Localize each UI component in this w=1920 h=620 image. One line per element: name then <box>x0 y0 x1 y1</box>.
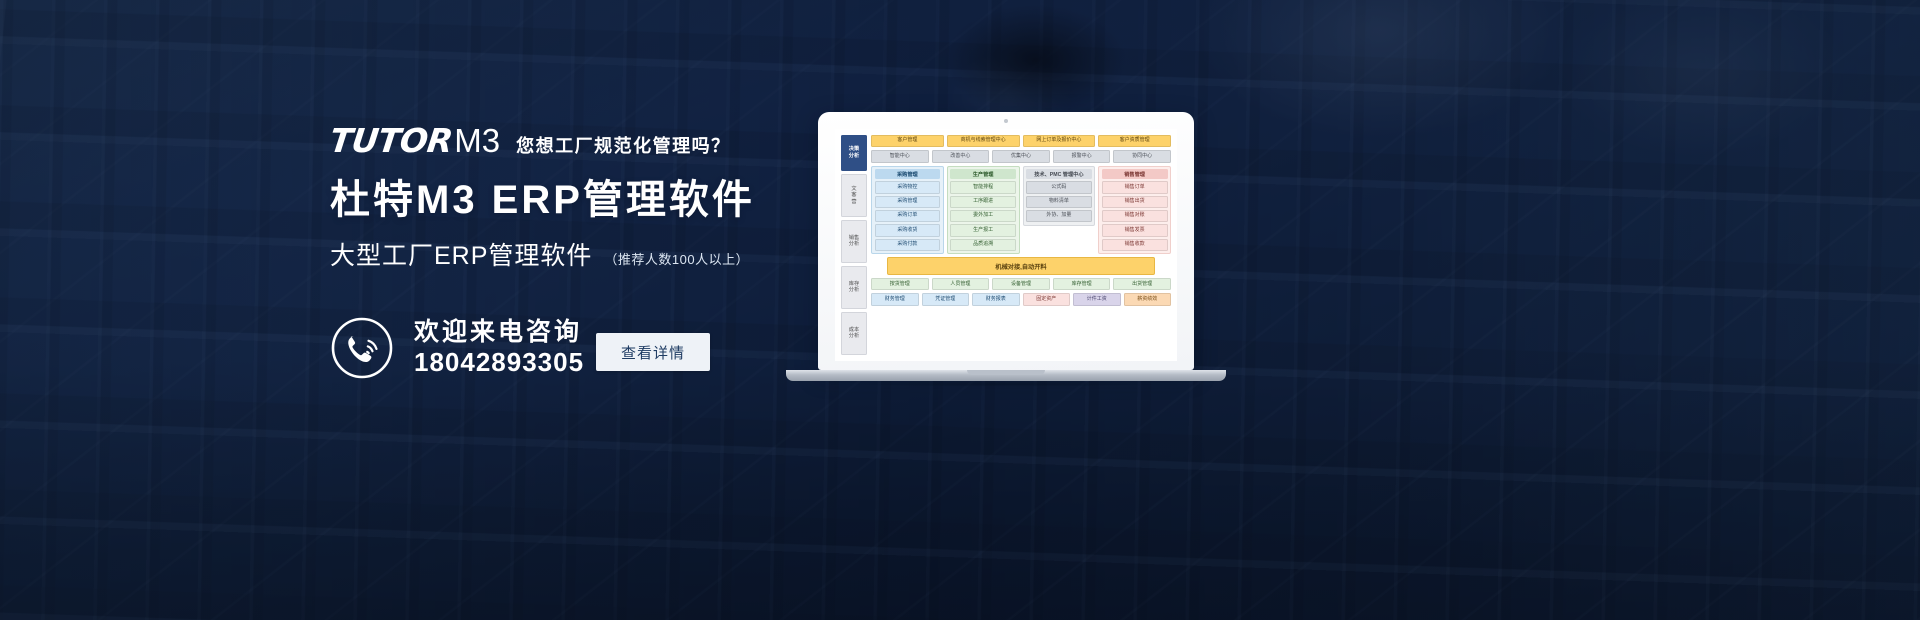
erp-chip: 财务报表 <box>972 293 1020 305</box>
erp-chip: 网上订单及报价中心 <box>1023 135 1096 147</box>
webcam-icon <box>1004 119 1008 123</box>
erp-highlight-banner: 机械对接,自动开料 <box>887 257 1155 275</box>
erp-sidebar-item-2: 销售分析 <box>841 220 867 263</box>
erp-chip: 客户管理 <box>871 135 944 147</box>
erp-chip: 设备管理 <box>992 278 1050 290</box>
erp-row-1: 客户管理 商机与线索管理中心 网上订单及报价中心 客户资质管理 <box>871 135 1171 147</box>
view-details-button[interactable]: 查看详情 <box>596 333 710 371</box>
tagline-text: 您想工厂规范化管理吗？ <box>516 137 731 155</box>
erp-item: 工序跟进 <box>950 196 1016 208</box>
erp-item: 品质追溯 <box>950 239 1016 251</box>
brand-logo: TUTOR M3 您想工厂规范化管理吗？ <box>330 124 731 157</box>
erp-item: 销售发票 <box>1102 224 1168 236</box>
erp-diagram: 决策分析 文客营 销售分析 库存分析 成本分析 客户管理 商机与线索管理中心 网… <box>835 129 1177 361</box>
erp-panel-production: 生产管理 智能排程 工序跟进 委外加工 生产报工 品质追溯 <box>947 166 1020 255</box>
contact-cta-label: 欢迎来电咨询 <box>414 318 584 346</box>
erp-item: 智能排程 <box>950 181 1016 193</box>
erp-chip: 出货管理 <box>1113 278 1171 290</box>
contact-block: 欢迎来电咨询 18042893305 <box>330 316 584 380</box>
erp-chip: 商机与线索管理中心 <box>947 135 1020 147</box>
erp-panel-title: 生产管理 <box>950 169 1016 179</box>
phone-ring-icon <box>330 316 394 380</box>
erp-chip: 按货管理 <box>871 278 929 290</box>
erp-panel-sales: 销售管理 销售订单 销售出货 销售对账 销售发票 销售收款 <box>1098 166 1171 255</box>
erp-row-2: 智能中心 改善中心 优集中心 报警中心 协同中心 <box>871 150 1171 162</box>
erp-chip: 客户资质管理 <box>1098 135 1171 147</box>
erp-sidebar-item-1: 文客营 <box>841 174 867 217</box>
erp-item: 委外加工 <box>950 210 1016 222</box>
laptop-shadow <box>800 380 1212 388</box>
erp-chip: 库存管理 <box>1053 278 1111 290</box>
contact-text: 欢迎来电咨询 18042893305 <box>414 318 584 378</box>
erp-chip: 薪资绩效 <box>1124 293 1172 305</box>
erp-item: 生产报工 <box>950 224 1016 236</box>
erp-panels: 采购管理 采购物控 采购管理 采购订单 采购收货 采购付款 生产管理 <box>871 166 1171 255</box>
laptop-screen: 决策分析 文客营 销售分析 库存分析 成本分析 客户管理 商机与线索管理中心 网… <box>835 129 1177 361</box>
erp-chip: 报警中心 <box>1053 150 1111 162</box>
erp-chip: 固定资产 <box>1023 293 1071 305</box>
laptop-notch <box>967 370 1045 375</box>
erp-item: 采购订单 <box>875 210 941 222</box>
erp-item: 物料清单 <box>1026 196 1092 208</box>
erp-chip: 财务管理 <box>871 293 919 305</box>
erp-panel-technology: 技术、PMC 管理中心 公式码 物料清单 外协、加量 <box>1023 166 1096 226</box>
subtitle-row: 大型工厂ERP管理软件 （推荐人数100人以上） <box>330 240 749 273</box>
erp-chip: 优集中心 <box>992 150 1050 162</box>
erp-item: 外协、加量 <box>1026 210 1092 222</box>
erp-item: 采购物控 <box>875 181 941 193</box>
subtitle-note: （推荐人数100人以上） <box>604 249 749 268</box>
erp-item: 采购收货 <box>875 224 941 236</box>
erp-panel-title: 采购管理 <box>875 169 941 179</box>
erp-item: 销售收款 <box>1102 239 1168 251</box>
erp-item: 采购付款 <box>875 239 941 251</box>
erp-sidebar-item-0: 决策分析 <box>841 135 867 171</box>
erp-sidebar-item-4: 成本分析 <box>841 312 867 355</box>
laptop-mockup: 决策分析 文客营 销售分析 库存分析 成本分析 客户管理 商机与线索管理中心 网… <box>786 112 1226 390</box>
erp-item: 公式码 <box>1026 181 1092 193</box>
erp-body: 客户管理 商机与线索管理中心 网上订单及报价中心 客户资质管理 智能中心 改善中… <box>871 135 1171 355</box>
erp-panel-title: 技术、PMC 管理中心 <box>1026 169 1092 179</box>
erp-chip: 智能中心 <box>871 150 929 162</box>
erp-item: 销售对账 <box>1102 210 1168 222</box>
logo-tutor-text: TUTOR <box>328 124 454 157</box>
erp-panel-title: 销售管理 <box>1102 169 1168 179</box>
erp-row-4: 财务管理 凭证管理 财务报表 固定资产 计件工资 薪资绩效 <box>871 293 1171 305</box>
erp-chip: 改善中心 <box>932 150 990 162</box>
erp-panel-purchasing: 采购管理 采购物控 采购管理 采购订单 采购收货 采购付款 <box>871 166 944 255</box>
erp-chip: 凭证管理 <box>922 293 970 305</box>
laptop-lid: 决策分析 文客营 销售分析 库存分析 成本分析 客户管理 商机与线索管理中心 网… <box>818 112 1194 370</box>
subtitle-text: 大型工厂ERP管理软件 <box>330 240 592 273</box>
erp-item: 采购管理 <box>875 196 941 208</box>
erp-row-3: 按货管理 人员管理 设备管理 库存管理 出货管理 <box>871 278 1171 290</box>
erp-sidebar: 决策分析 文客营 销售分析 库存分析 成本分析 <box>841 135 867 355</box>
erp-chip: 计件工资 <box>1073 293 1121 305</box>
erp-chip: 协同中心 <box>1113 150 1171 162</box>
contact-phone-number[interactable]: 18042893305 <box>414 348 584 378</box>
logo-m3-text: M3 <box>454 124 500 157</box>
erp-sidebar-item-3: 库存分析 <box>841 266 867 309</box>
erp-chip: 人员管理 <box>932 278 990 290</box>
page-title: 杜特M3 ERP管理软件 <box>330 175 755 225</box>
erp-item: 销售出货 <box>1102 196 1168 208</box>
erp-item: 销售订单 <box>1102 181 1168 193</box>
